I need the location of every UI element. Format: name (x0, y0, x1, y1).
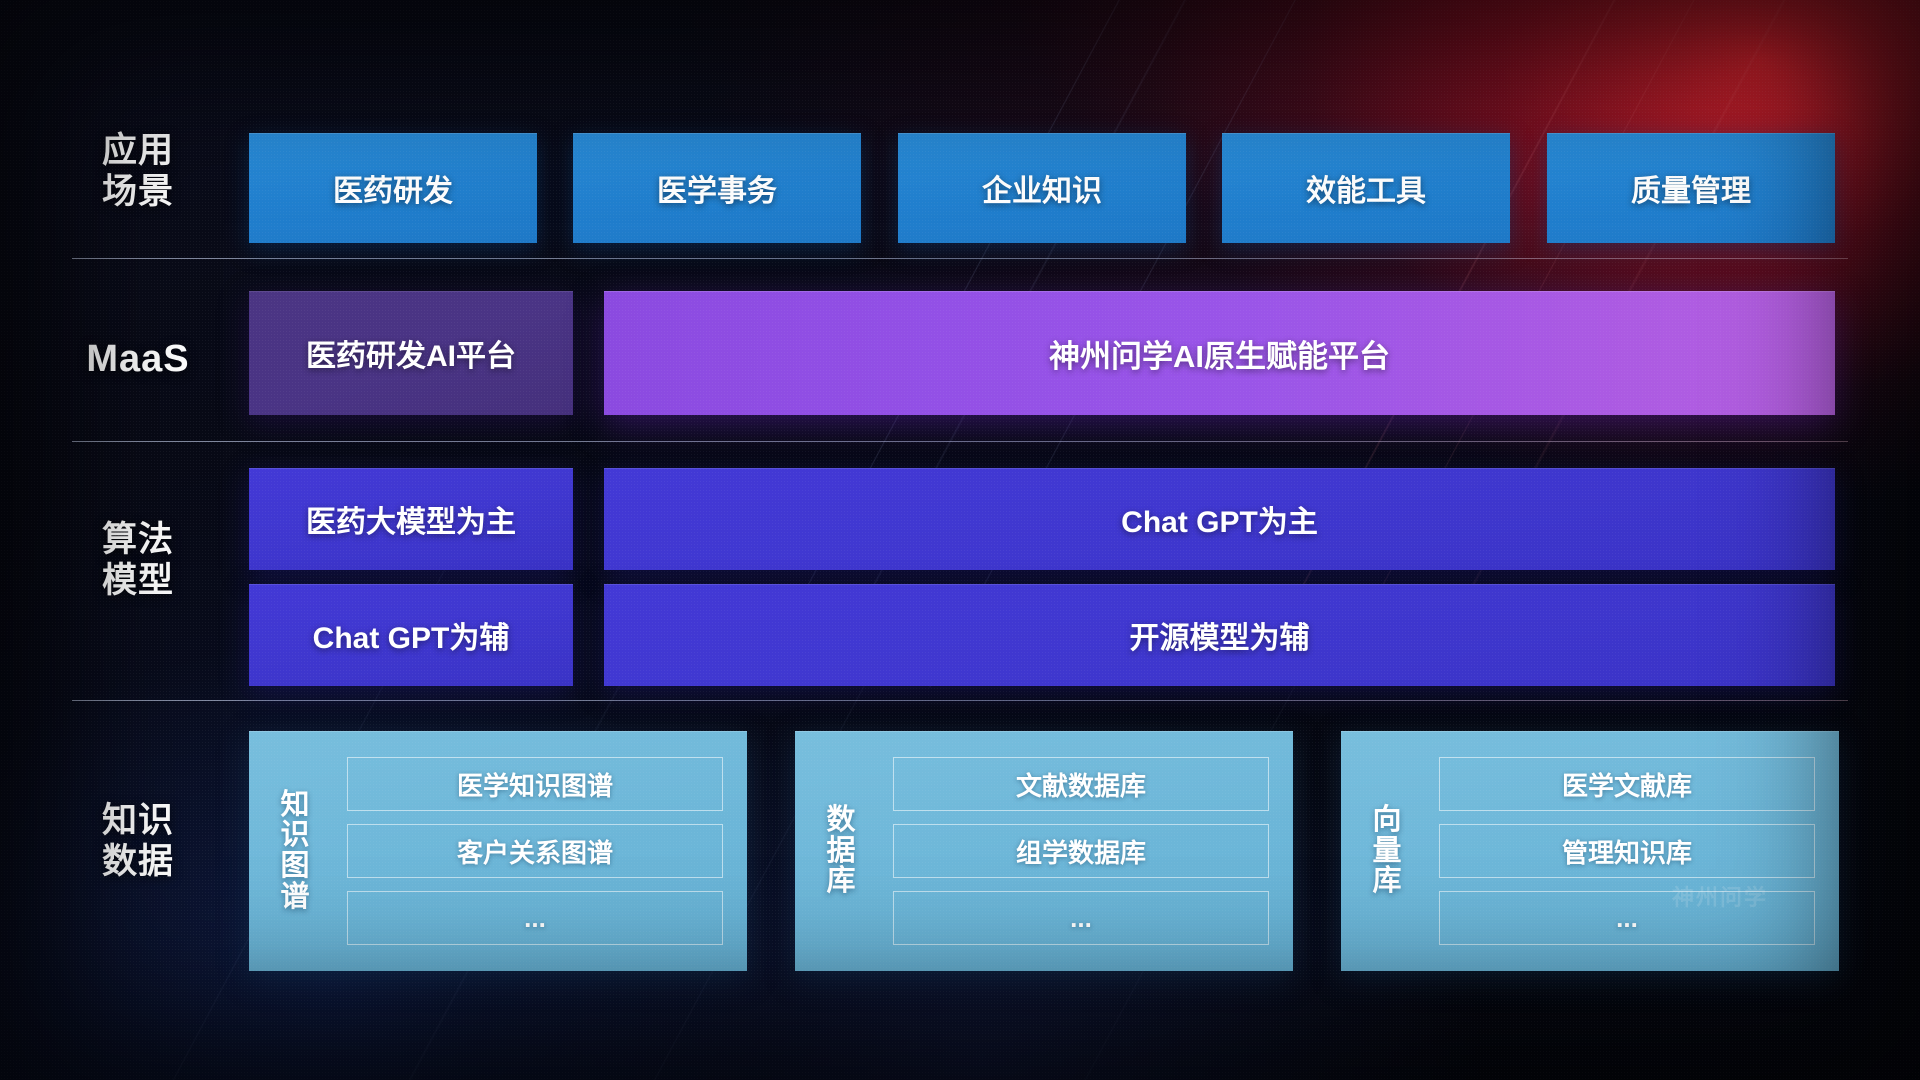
row-label-line: 模型 (72, 560, 204, 601)
row-label-knowledge: 知识 数据 (72, 800, 204, 883)
row-label-maas: MaaS (72, 337, 204, 382)
knowledge-group-graph: 知 识 图 谱 医学知识图谱 客户关系图谱 ... (249, 731, 747, 971)
knowledge-group-graph-label-char: 谱 (280, 882, 309, 913)
knowledge-group-vector-label: 向 量 库 (1341, 805, 1433, 897)
knowledge-chip-more-db[interactable]: ... (893, 891, 1269, 945)
knowledge-group-database-label-char: 数 (826, 805, 855, 836)
knowledge-group-database-label: 数 据 库 (795, 805, 887, 897)
divider-after-application (72, 258, 1848, 259)
row-label-line: MaaS (72, 337, 204, 382)
knowledge-group-database-label-char: 库 (826, 866, 855, 897)
knowledge-group-graph-label-char: 图 (280, 851, 309, 882)
row-label-line: 场景 (72, 171, 204, 212)
maas-box-medicine-ai-platform[interactable]: 医药研发AI平台 (249, 291, 573, 415)
knowledge-group-graph-label-char: 识 (280, 820, 309, 851)
knowledge-group-vector: 向 量 库 医学文献库 管理知识库 ... (1341, 731, 1839, 971)
app-box-enterprise-knowledge[interactable]: 企业知识 (898, 133, 1186, 243)
knowledge-group-graph-label-char: 知 (280, 790, 309, 821)
maas-box-shenzhou-wenxue-platform[interactable]: 神州问学AI原生赋能平台 (604, 291, 1835, 415)
diagram-canvas: 应用 场景 医药研发 医学事务 企业知识 效能工具 质量管理 MaaS 医药研发… (0, 0, 1920, 1080)
app-box-efficiency-tools[interactable]: 效能工具 (1222, 133, 1510, 243)
knowledge-group-vector-label-char: 向 (1372, 805, 1401, 836)
row-label-line: 应用 (72, 130, 204, 171)
knowledge-chip-medical-graph[interactable]: 医学知识图谱 (347, 757, 723, 811)
row-label-algorithm: 算法 模型 (72, 519, 204, 602)
knowledge-group-vector-label-char: 库 (1372, 866, 1401, 897)
algo-box-opensource-model-secondary[interactable]: 开源模型为辅 (604, 584, 1835, 686)
row-label-line: 知识 (72, 800, 204, 841)
knowledge-group-graph-label: 知 识 图 谱 (249, 790, 341, 913)
knowledge-group-vector-items: 医学文献库 管理知识库 ... (1433, 735, 1839, 967)
knowledge-chip-management-knowledge[interactable]: 管理知识库 (1439, 824, 1815, 878)
knowledge-chip-literature-db[interactable]: 文献数据库 (893, 757, 1269, 811)
row-label-line: 数据 (72, 841, 204, 882)
divider-after-algorithm (72, 700, 1848, 701)
diagram-rows: 应用 场景 医药研发 医学事务 企业知识 效能工具 质量管理 MaaS 医药研发… (0, 0, 1920, 1080)
algo-box-chatgpt-secondary[interactable]: Chat GPT为辅 (249, 584, 573, 686)
divider-after-maas (72, 441, 1848, 442)
app-box-quality-management[interactable]: 质量管理 (1547, 133, 1835, 243)
knowledge-chip-customer-graph[interactable]: 客户关系图谱 (347, 824, 723, 878)
row-label-line: 算法 (72, 519, 204, 560)
knowledge-chip-more-graph[interactable]: ... (347, 891, 723, 945)
knowledge-chip-medical-literature[interactable]: 医学文献库 (1439, 757, 1815, 811)
algo-box-chatgpt-primary[interactable]: Chat GPT为主 (604, 468, 1835, 570)
app-box-medical-affairs[interactable]: 医学事务 (573, 133, 861, 243)
app-box-medicine-rd[interactable]: 医药研发 (249, 133, 537, 243)
algo-box-medicine-large-model-primary[interactable]: 医药大模型为主 (249, 468, 573, 570)
row-label-application: 应用 场景 (72, 130, 204, 213)
watermark: 神州问学 (1672, 880, 1768, 912)
knowledge-group-database: 数 据 库 文献数据库 组学数据库 ... (795, 731, 1293, 971)
knowledge-group-graph-items: 医学知识图谱 客户关系图谱 ... (341, 735, 747, 967)
knowledge-group-database-items: 文献数据库 组学数据库 ... (887, 735, 1293, 967)
knowledge-group-vector-label-char: 量 (1372, 836, 1401, 867)
knowledge-group-database-label-char: 据 (826, 836, 855, 867)
knowledge-chip-omics-db[interactable]: 组学数据库 (893, 824, 1269, 878)
